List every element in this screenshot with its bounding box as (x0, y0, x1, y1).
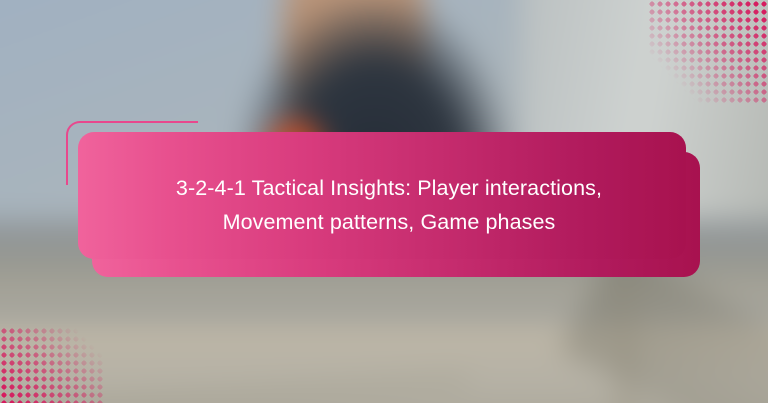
banner-screenshot: 3-2-4-1 Tactical Insights: Player intera… (0, 0, 768, 403)
banner-headline-line-2: Movement patterns, Game phases (223, 205, 556, 239)
banner-headline: 3-2-4-1 Tactical Insights: Player intera… (78, 132, 700, 277)
banner-card: 3-2-4-1 Tactical Insights: Player intera… (0, 0, 768, 403)
banner-headline-line-1: 3-2-4-1 Tactical Insights: Player intera… (176, 171, 602, 205)
